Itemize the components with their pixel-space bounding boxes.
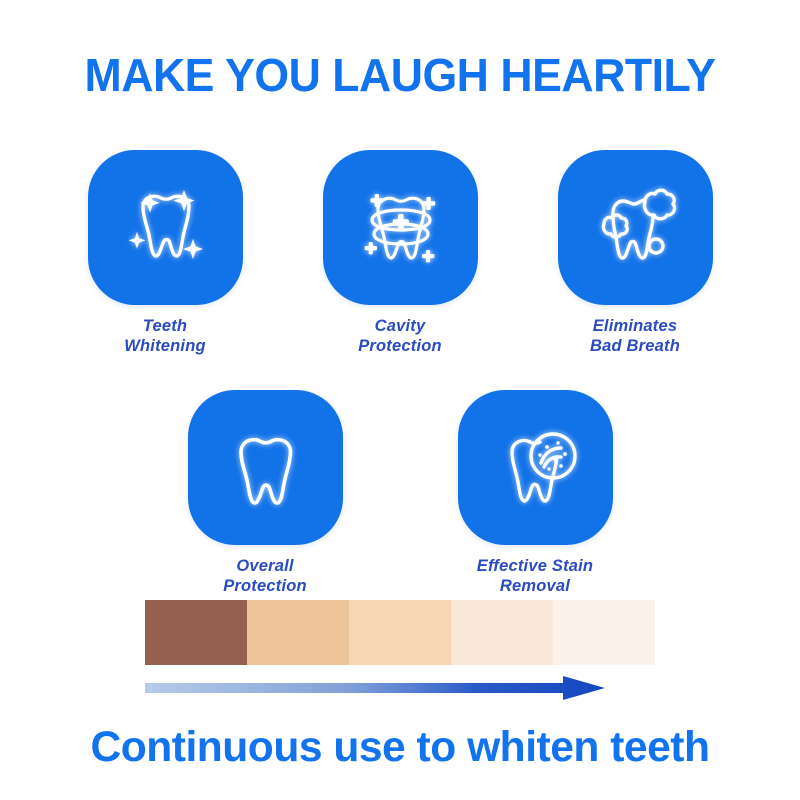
feature-label: Effective Stain Removal <box>477 556 593 596</box>
shielded-tooth-icon <box>348 176 452 280</box>
feature-icon-tile[interactable] <box>188 390 343 545</box>
feature-card-effective-stain-removal[interactable]: Effective Stain Removal <box>458 390 613 596</box>
shade-5-lightest <box>553 600 655 665</box>
page-title-top: MAKE YOU LAUGH HEARTILY <box>12 50 788 100</box>
feature-icon-tile[interactable] <box>458 390 613 545</box>
feature-icon-tile[interactable] <box>323 150 478 305</box>
shade-2 <box>247 600 349 665</box>
feature-label: Eliminates Bad Breath <box>590 316 680 356</box>
shade-4 <box>451 600 553 665</box>
shade-1-darkest <box>145 600 247 665</box>
feature-card-overall-protection[interactable]: Overall Protection <box>188 390 343 596</box>
stain-magnifier-tooth-icon <box>483 416 587 520</box>
feature-row-top: Teeth Whitening <box>0 150 800 356</box>
plain-tooth-icon <box>213 416 317 520</box>
feature-card-cavity-protection[interactable]: Cavity Protection <box>323 150 478 356</box>
infographic-canvas: MAKE YOU LAUGH HEARTILY Teeth White <box>0 0 800 800</box>
feature-label: Overall Protection <box>223 556 307 596</box>
feature-label: Cavity Protection <box>358 316 442 356</box>
feature-card-eliminates-bad-breath[interactable]: Eliminates Bad Breath <box>558 150 713 356</box>
feature-label: Teeth Whitening <box>124 316 206 356</box>
page-title-bottom: Continuous use to whiten teeth <box>4 723 796 771</box>
feature-card-teeth-whitening[interactable]: Teeth Whitening <box>88 150 243 356</box>
breath-tooth-icon <box>583 176 687 280</box>
feature-row-bottom: Overall Protection <box>0 390 800 596</box>
whitening-progress-arrow-icon <box>145 675 605 701</box>
tooth-shade-gradient-bar <box>145 600 655 665</box>
feature-icon-tile[interactable] <box>88 150 243 305</box>
shade-3 <box>349 600 451 665</box>
feature-icon-tile[interactable] <box>558 150 713 305</box>
sparkle-tooth-icon <box>113 176 217 280</box>
